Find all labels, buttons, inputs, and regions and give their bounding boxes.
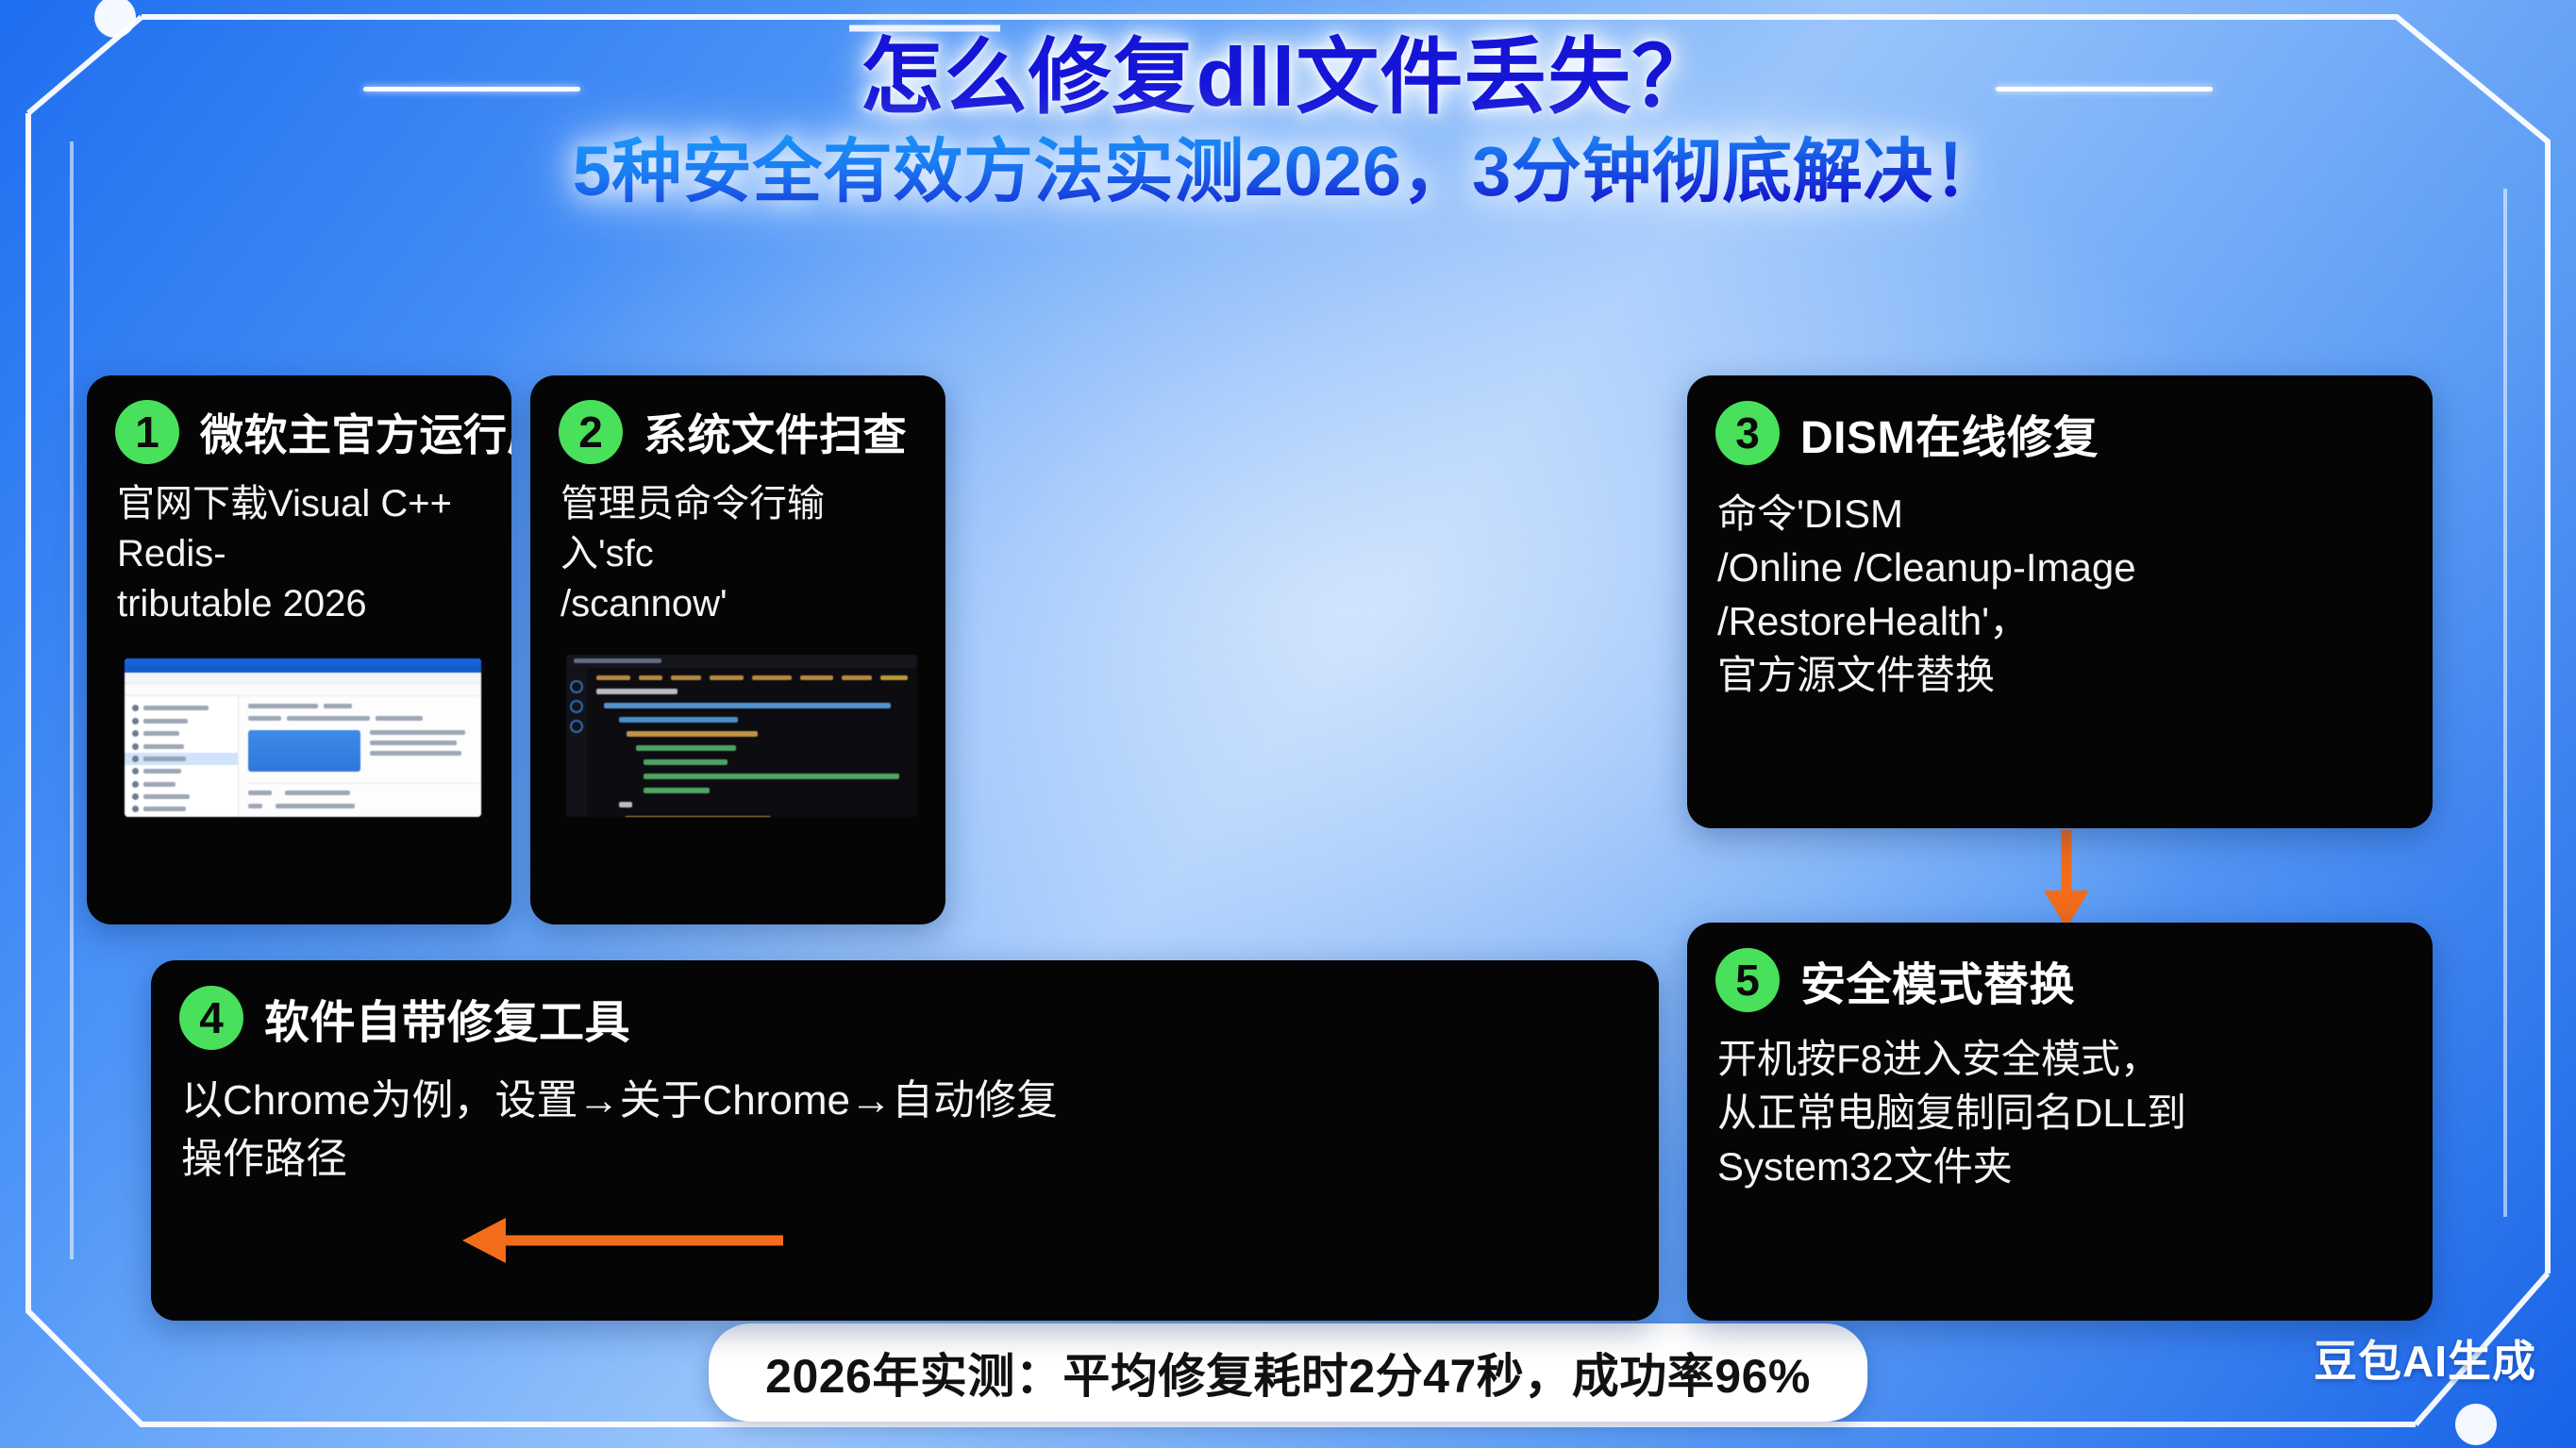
card-1[interactable]: 1 微软主官方运行库 官网下载Visual C++ Redis- tributa… — [87, 375, 511, 924]
sidebar-row[interactable] — [125, 803, 238, 815]
card-3-badge: 3 — [1715, 401, 1780, 465]
doc-icon — [132, 781, 139, 788]
page-subtitle: 5种安全有效方法实测2026，3分钟彻底解决！ — [0, 133, 2576, 211]
arrow-card3-to-card5 — [2010, 830, 2123, 934]
explorer-menubar — [125, 673, 481, 684]
card-5-badge: 5 — [1715, 948, 1780, 1012]
sidebar-row[interactable] — [125, 765, 238, 777]
card-5-head: 5 安全模式替换 — [1687, 923, 2433, 1013]
sidebar-row[interactable] — [125, 778, 238, 791]
card-3-text: 命令'DISM /Online /Cleanup-Image /RestoreH… — [1687, 466, 2433, 702]
sidebar-row[interactable] — [125, 740, 238, 752]
card-2-text: 管理员命令行输入'sfc /scannow' — [530, 464, 945, 628]
info-panel — [248, 730, 360, 772]
card-2-heading: 系统文件扫查 — [644, 401, 907, 463]
card-5-text: 开机按F8进入安全模式， 从正常电脑复制同名DLL到 System32文件夹 — [1687, 1013, 2433, 1193]
card-3-head: 3 DISM在线修复 — [1687, 375, 2433, 466]
card-2-head: 2 系统文件扫查 — [530, 375, 945, 464]
explorer-icon[interactable] — [570, 680, 583, 693]
terminal-titlebar — [566, 655, 917, 668]
terminal-code — [587, 668, 917, 817]
sidebar-row[interactable] — [125, 702, 238, 714]
card-1-heading: 微软主官方运行库 — [200, 401, 511, 463]
card-4-badge: 4 — [179, 986, 243, 1050]
explorer-titlebar — [125, 658, 481, 673]
explorer-mainpane — [239, 696, 481, 817]
sidebar-row[interactable] — [125, 715, 238, 727]
page-title: 怎么修复dll文件丢失？ — [0, 32, 2576, 122]
card-4-heading: 软件自带修复工具 — [264, 985, 630, 1051]
chevron-right-icon — [132, 743, 139, 750]
stat-footer-pill: 2026年实测：平均修复耗时2分47秒，成功率96% — [709, 1323, 1867, 1422]
card-3-heading: DISM在线修复 — [1800, 400, 2099, 466]
doc-icon — [132, 768, 139, 774]
infographic-canvas: 怎么修复dll文件丢失？ 5种安全有效方法实测2026，3分钟彻底解决！ 1 微… — [0, 0, 2576, 1448]
folder-icon — [132, 705, 139, 711]
card-2-screenshot-terminal — [566, 655, 917, 817]
card-2-badge: 2 — [559, 400, 623, 464]
pin-icon — [132, 730, 139, 737]
terminal-activity-bar[interactable] — [566, 668, 587, 817]
search-icon[interactable] — [570, 700, 583, 713]
git-icon[interactable] — [570, 720, 583, 733]
card-1-screenshot-explorer — [125, 658, 481, 817]
card-3[interactable]: 3 DISM在线修复 命令'DISM /Online /Cleanup-Imag… — [1687, 375, 2433, 828]
folder-open-icon — [132, 756, 139, 762]
card-5-heading: 安全模式替换 — [1800, 947, 2075, 1013]
clock-icon — [132, 718, 139, 724]
explorer-toolbar — [125, 684, 481, 696]
sidebar-row[interactable] — [125, 727, 238, 740]
card-2[interactable]: 2 系统文件扫查 管理员命令行输入'sfc /scannow' — [530, 375, 945, 924]
sidebar-row[interactable] — [125, 791, 238, 803]
card-1-head: 1 微软主官方运行库 — [87, 375, 511, 464]
card-4-text: 以Chrome为例，设置→关于Chrome→自动修复 操作路径 — [151, 1051, 1659, 1188]
card-1-text: 官网下载Visual C++ Redis- tributable 2026 — [87, 464, 511, 628]
card-4[interactable]: 4 软件自带修复工具 以Chrome为例，设置→关于Chrome→自动修复 操作… — [151, 960, 1659, 1321]
explorer-content — [125, 696, 481, 817]
card-1-badge: 1 — [115, 400, 179, 464]
watermark-label: 豆包AI生成 — [2314, 1327, 2536, 1390]
disk-icon — [132, 793, 139, 800]
title-block: 怎么修复dll文件丢失？ 5种安全有效方法实测2026，3分钟彻底解决！ — [0, 32, 2576, 211]
sidebar-row-selected[interactable] — [125, 753, 238, 765]
explorer-sidebar — [125, 696, 239, 817]
disk-icon — [132, 806, 139, 812]
terminal-content — [566, 668, 917, 817]
card-5[interactable]: 5 安全模式替换 开机按F8进入安全模式， 从正常电脑复制同名DLL到 Syst… — [1687, 923, 2433, 1321]
card-4-head: 4 软件自带修复工具 — [151, 960, 1659, 1051]
